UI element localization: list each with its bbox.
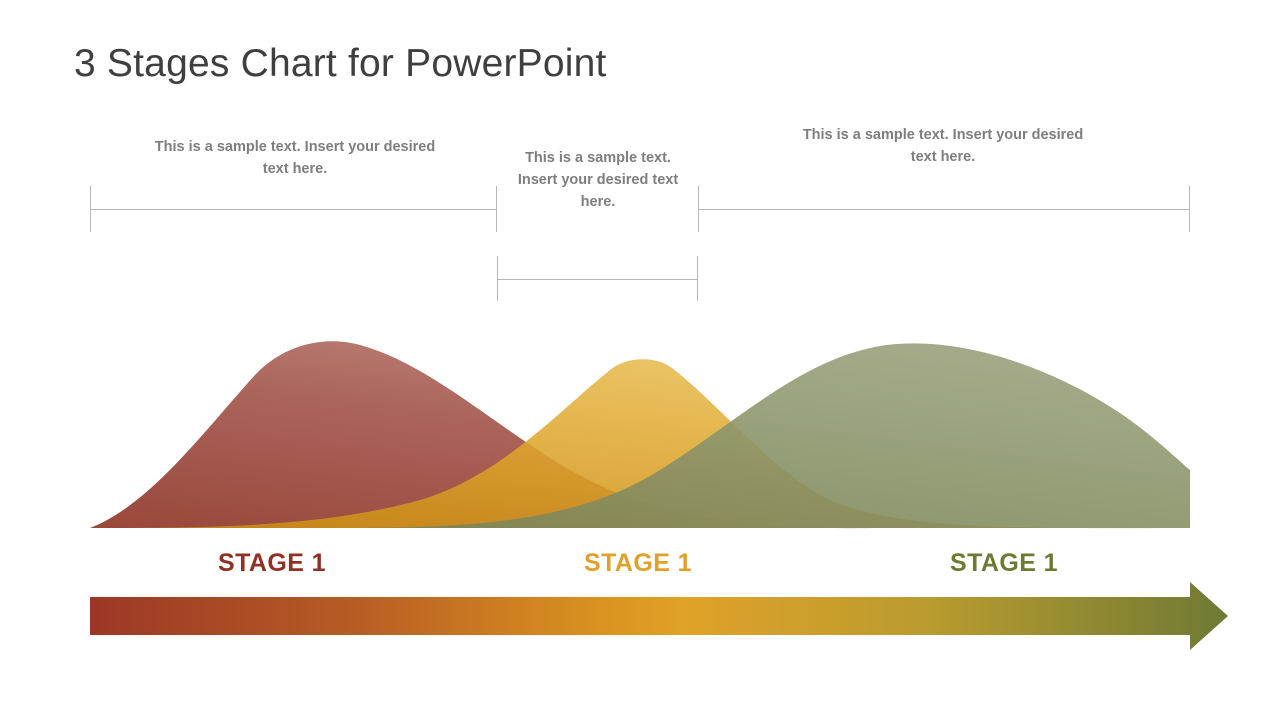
arrow-shape[interactable] <box>90 582 1228 650</box>
slide-canvas: 3 Stages Chart for PowerPoint This is a … <box>0 0 1280 720</box>
progress-arrow[interactable] <box>0 0 1280 720</box>
